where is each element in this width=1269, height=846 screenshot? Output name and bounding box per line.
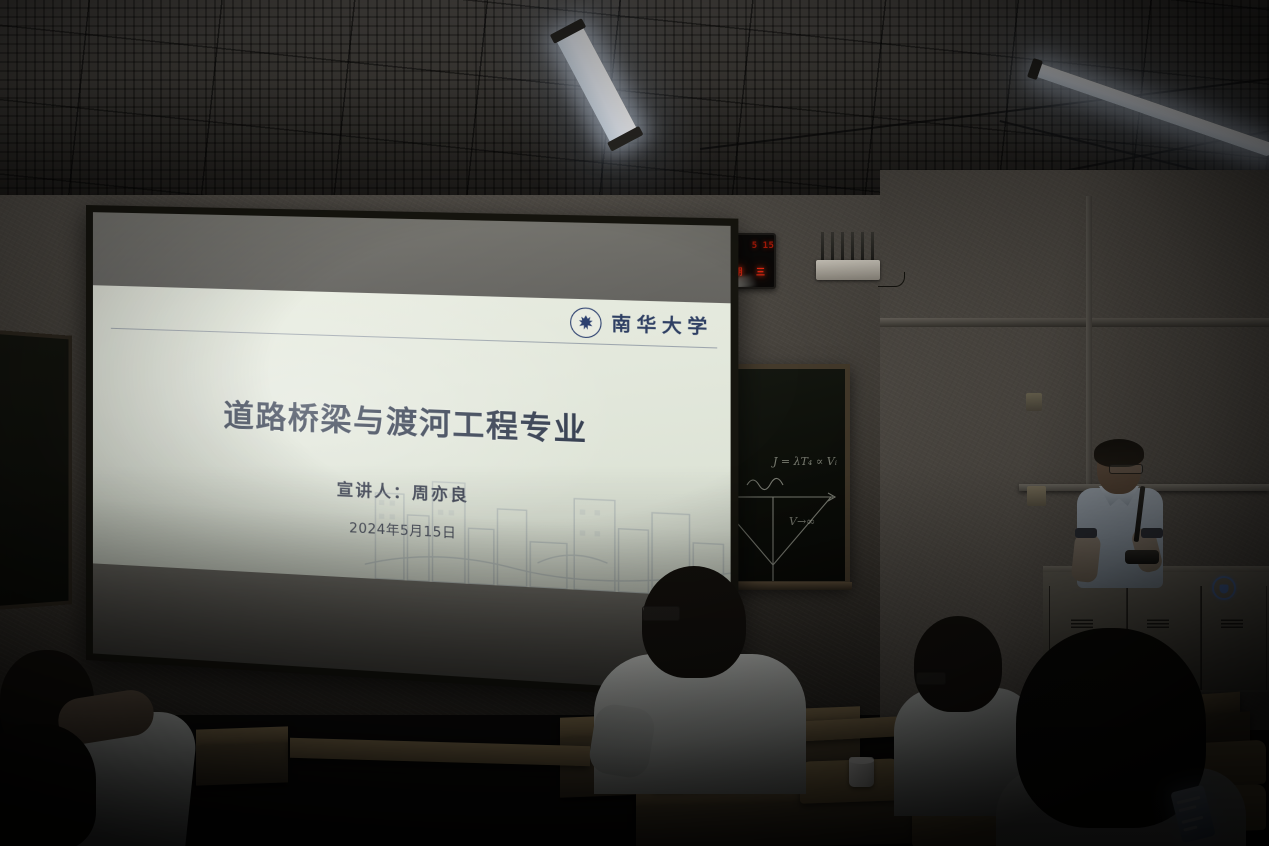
conduit-junction-box (1027, 486, 1046, 506)
attendee-glasses-icon (916, 672, 946, 685)
attendee-front-left (0, 628, 202, 846)
locker-badge-icon (1212, 576, 1236, 600)
attendee-center (586, 566, 816, 796)
presenter-glasses-icon (1109, 464, 1143, 474)
slide-title: 道路桥梁与渡河工程专业 (93, 385, 731, 456)
university-name: 南华大学 (611, 310, 712, 340)
wooden-lecture-desk (290, 738, 590, 766)
conduit-junction-box (1026, 393, 1042, 411)
attendee-foreground-right (1000, 628, 1240, 846)
clock-month: 5 (752, 241, 758, 251)
university-logo: 南华大学 (570, 307, 713, 342)
chalk-formula: J = λT₄ ∝ Vᵢ (773, 455, 837, 468)
lecture-hall-photo: 2024 5 15 星 期 三 J = λT₄ (0, 0, 1269, 846)
wall-ledge (880, 318, 1269, 327)
clock-day: 15 (763, 241, 775, 251)
clock-weekday-3: 三 (756, 265, 766, 278)
attendee-glasses-icon (642, 606, 680, 621)
side-blackboard (0, 330, 72, 610)
chalk-note: V→∞ (789, 515, 815, 528)
desk-front-panel (196, 742, 288, 785)
paper-cup-on-desk (849, 757, 874, 787)
signal-jammer-unit (812, 232, 884, 282)
presentation-slide: 南华大学 道路桥梁与渡河工程专业 宣讲人：周亦良 2024年5月15日 (93, 285, 731, 598)
microphone-base (1125, 550, 1159, 564)
presenter-at-podium (1065, 442, 1175, 587)
university-emblem-icon (570, 307, 602, 338)
